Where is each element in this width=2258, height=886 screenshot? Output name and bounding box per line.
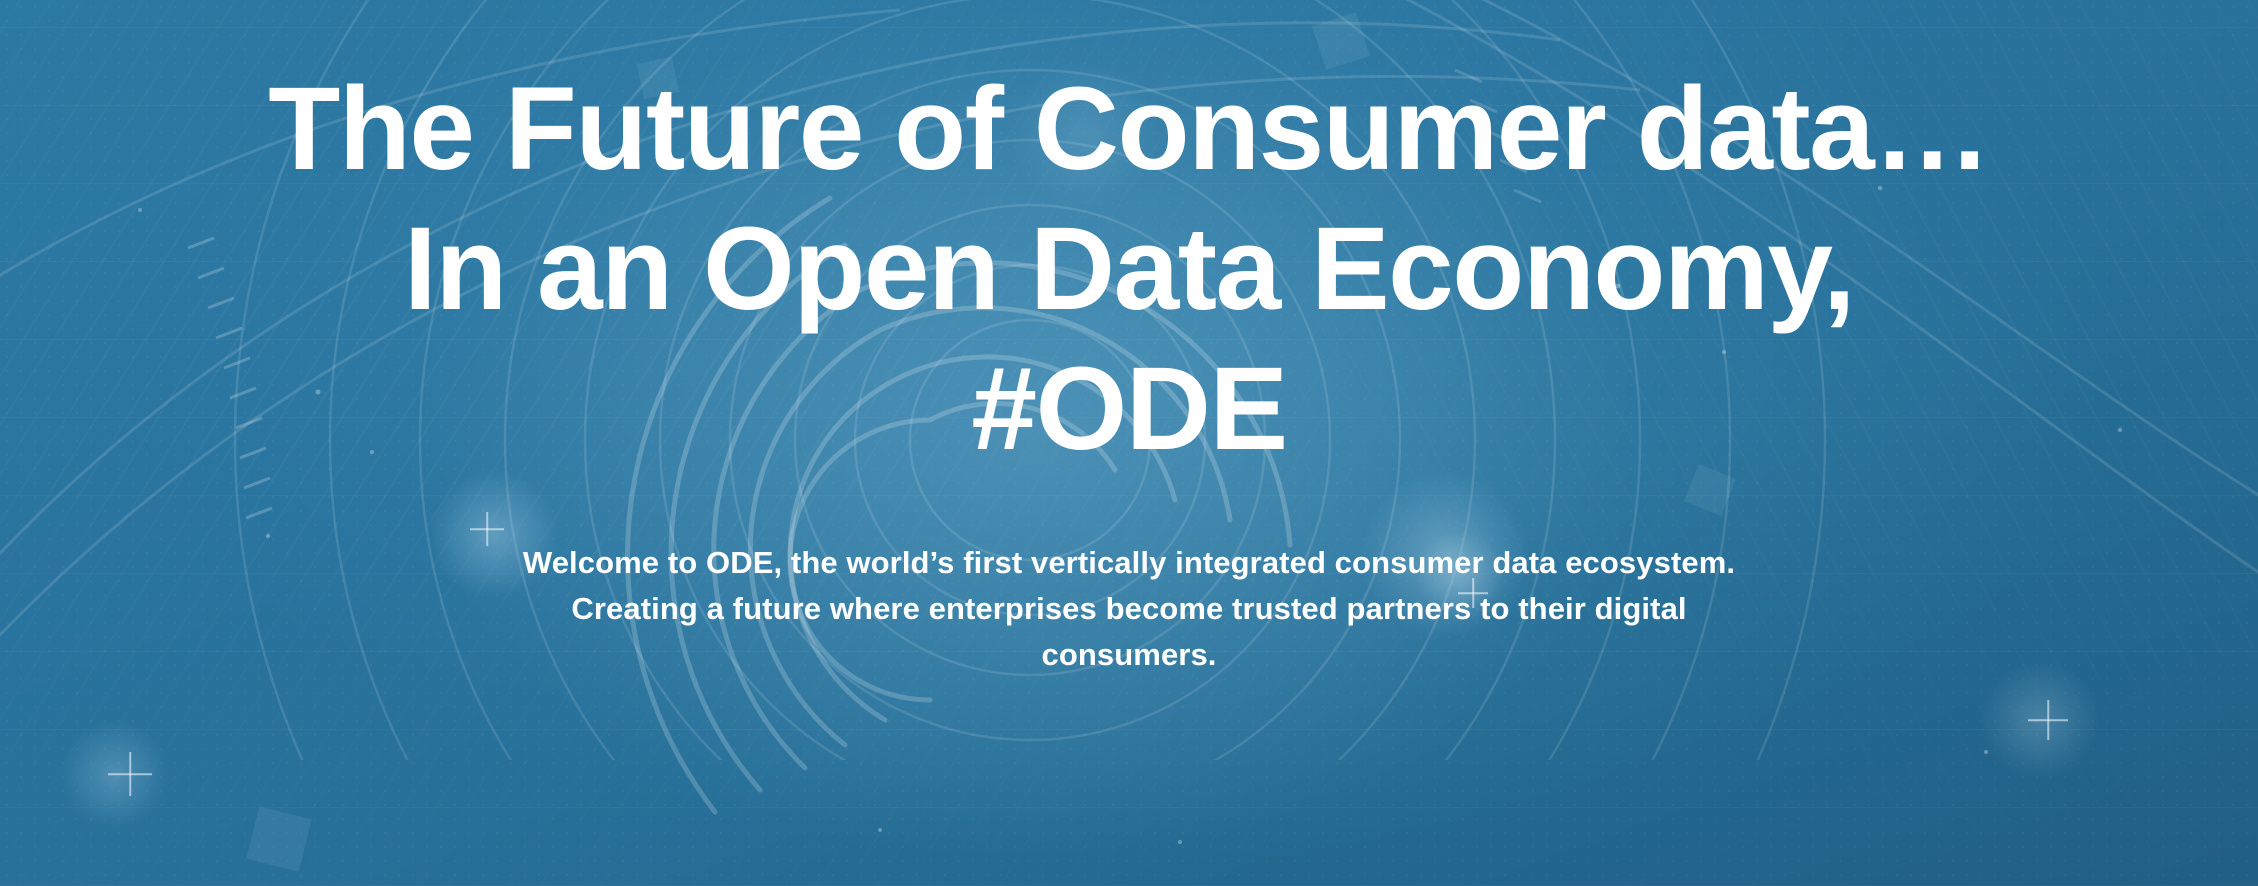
- page-title: The Future of Consumer data… In an Open …: [24, 70, 2234, 468]
- hero-subcopy: Welcome to ODE, the world’s first vertic…: [509, 540, 1749, 678]
- hero-banner: The Future of Consumer data… In an Open …: [0, 0, 2258, 886]
- headline-line-2: In an Open Data Economy,: [24, 210, 2234, 328]
- hero-content: The Future of Consumer data… In an Open …: [0, 0, 2258, 886]
- subcopy-line-2: Creating a future where enterprises beco…: [509, 586, 1749, 632]
- headline-line-1: The Future of Consumer data…: [24, 70, 2234, 188]
- subcopy-line-3: consumers.: [509, 632, 1749, 678]
- headline-line-3: #ODE: [24, 350, 2234, 468]
- subcopy-line-1: Welcome to ODE, the world’s first vertic…: [509, 540, 1749, 586]
